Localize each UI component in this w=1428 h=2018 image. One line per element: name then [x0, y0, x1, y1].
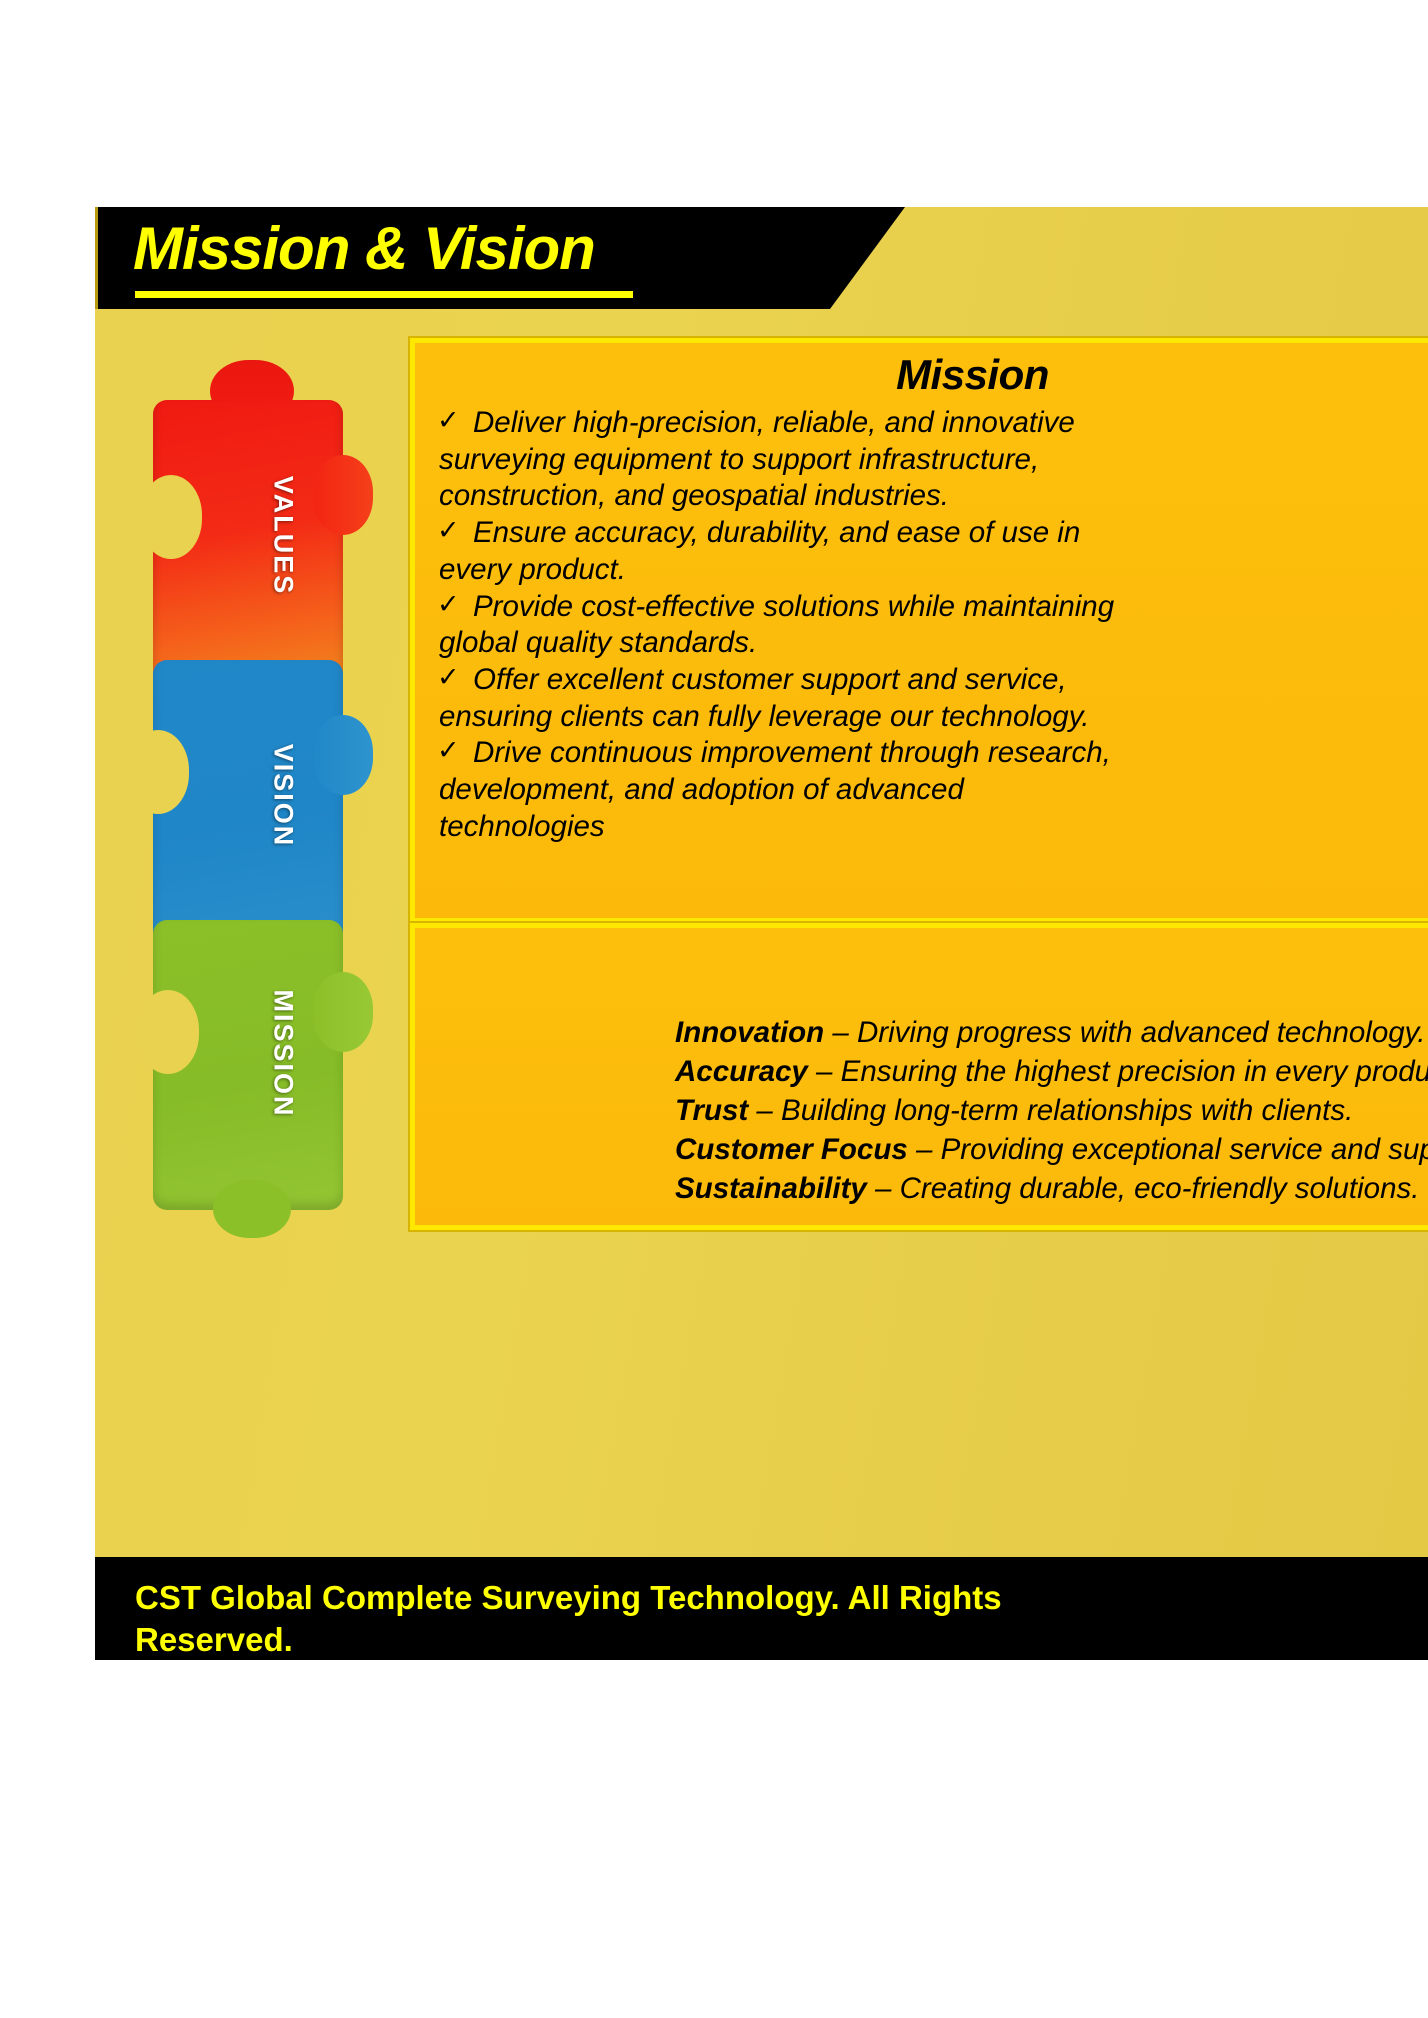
mission-bullet-line: development, and adoption of advanced	[439, 772, 1428, 809]
mission-bullet-line: every product.	[439, 552, 1428, 589]
values-dash: –	[808, 1055, 841, 1088]
puzzle-knob-right	[313, 715, 373, 795]
values-term: Customer Focus	[675, 1133, 908, 1166]
puzzle-piece-body	[153, 660, 343, 950]
values-desc: Creating durable, eco-friendly solutions…	[900, 1172, 1420, 1205]
puzzle-notch-left	[127, 730, 189, 814]
values-term: Innovation	[675, 1016, 824, 1049]
slide: Mission & Vision VALUES VISION MISSION	[95, 207, 1428, 1660]
mission-bullet-line: Deliver high-precision, reliable, and in…	[473, 406, 1075, 439]
puzzle-label-vision: VISION	[268, 716, 299, 876]
puzzle-label-mission: MISSION	[268, 964, 299, 1144]
mission-bullet-item: ✓ Deliver high-precision, reliable, and …	[415, 405, 1428, 515]
puzzle-knob-right	[313, 455, 373, 535]
check-icon: ✓	[437, 404, 460, 438]
values-dash: –	[824, 1016, 857, 1049]
values-box: Innovation – Driving progress with advan…	[410, 923, 1428, 1230]
mission-bullet-item: ✓ Ensure accuracy, durability, and ease …	[415, 515, 1428, 588]
values-desc: Providing exceptional service and suppor…	[941, 1133, 1428, 1166]
mission-bullet-list: ✓ Deliver high-precision, reliable, and …	[415, 401, 1428, 846]
mission-box: Mission ✓ Deliver high-precision, reliab…	[410, 338, 1428, 923]
values-item: Accuracy – Ensuring the highest precisio…	[675, 1053, 1428, 1092]
mission-bullet-line: Drive continuous improvement through res…	[473, 736, 1111, 769]
mission-heading: Mission	[415, 351, 1428, 399]
mission-bullet-line: Offer excellent customer support and ser…	[473, 663, 1067, 696]
values-item: Innovation – Driving progress with advan…	[675, 1014, 1428, 1053]
mission-bullet-line: technologies	[439, 809, 1428, 846]
mission-bullet-line: ensuring clients can fully leverage our …	[439, 699, 1428, 736]
mission-bullet-item: ✓ Offer excellent customer support and s…	[415, 662, 1428, 735]
check-icon: ✓	[437, 734, 460, 768]
puzzle-knob-right	[313, 972, 373, 1052]
check-icon: ✓	[437, 661, 460, 695]
mission-bullet-item: ✓ Provide cost-effective solutions while…	[415, 589, 1428, 662]
footer-bar: CST Global Complete Surveying Technology…	[95, 1557, 1428, 1660]
puzzle-notch-left	[140, 475, 202, 559]
puzzle-notch-left	[137, 990, 199, 1074]
values-desc: Ensuring the highest precision in every …	[841, 1055, 1428, 1088]
values-term: Accuracy	[675, 1055, 808, 1088]
footer-copyright: CST Global Complete Surveying Technology…	[135, 1577, 1035, 1660]
values-desc: Driving progress with advanced technolog…	[857, 1016, 1425, 1049]
mission-bullet-line: Provide cost-effective solutions while m…	[473, 590, 1114, 623]
values-item: Trust – Building long-term relationships…	[675, 1092, 1428, 1131]
check-icon: ✓	[437, 514, 460, 548]
mission-bullet-item: ✓ Drive continuous improvement through r…	[415, 735, 1428, 845]
puzzle-tab-bottom	[213, 1180, 291, 1238]
page-title: Mission & Vision	[133, 219, 595, 279]
values-desc: Building long-term relationships with cl…	[781, 1094, 1353, 1127]
page-title-underline	[135, 291, 633, 298]
mission-bullet-line: construction, and geospatial industries.	[439, 478, 1428, 515]
mission-bullet-line: Ensure accuracy, durability, and ease of…	[473, 516, 1080, 549]
values-list: Innovation – Driving progress with advan…	[415, 928, 1428, 1209]
check-icon: ✓	[437, 588, 460, 622]
puzzle-graphic: VALUES VISION MISSION	[135, 360, 380, 1220]
mission-bullet-line: global quality standards.	[439, 625, 1428, 662]
banner-left-edge	[95, 207, 98, 309]
values-dash: –	[867, 1172, 900, 1205]
values-term: Trust	[675, 1094, 748, 1127]
mission-bullet-line: surveying equipment to support infrastru…	[439, 442, 1428, 479]
values-dash: –	[908, 1133, 941, 1166]
values-dash: –	[748, 1094, 781, 1127]
values-term: Sustainability	[675, 1172, 867, 1205]
values-item: Sustainability – Creating durable, eco-f…	[675, 1170, 1428, 1209]
values-item: Customer Focus – Providing exceptional s…	[675, 1131, 1428, 1170]
puzzle-label-values: VALUES	[268, 456, 299, 616]
